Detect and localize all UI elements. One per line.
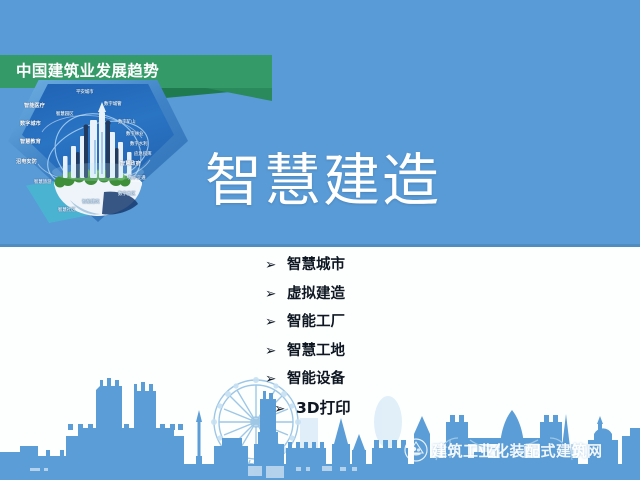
- list-item-label: 智慧城市: [287, 253, 345, 274]
- watermark: 建筑工业化装配式建筑网: [404, 437, 603, 463]
- pentagon-label: 智慧教育: [20, 140, 41, 145]
- list-item-label: 智能设备: [287, 367, 345, 388]
- site-logo-icon: [404, 438, 428, 462]
- pentagon-label: 数字景区: [118, 192, 136, 197]
- list-item[interactable]: ➢ 智慧工地: [265, 339, 525, 368]
- pentagon-label: 智慧政府: [120, 162, 141, 167]
- pentagon-label: 智慧社区: [58, 208, 76, 213]
- arrow-bullet-icon: ➢: [265, 371, 287, 387]
- list-item-label: 3D打印: [296, 396, 351, 418]
- watermark-text: 建筑工业化装配式建筑网: [432, 440, 603, 461]
- list-item-label: 智能工厂: [287, 310, 345, 331]
- pentagon-label: 应急指挥: [134, 152, 152, 157]
- pentagon-label: 智慧旅游: [34, 180, 52, 185]
- slide-canvas: 中国建筑业发展趋势: [0, 0, 640, 480]
- smart-city-pentagon-graphic: 平安城市 智能医疗 智慧园区 数字城管 数字城市 数字矿山 智慧教育 数字林业 …: [8, 80, 188, 222]
- pentagon-label: 数字城管: [104, 102, 122, 107]
- list-item[interactable]: ➢ 3D打印: [265, 396, 525, 425]
- pentagon-label: 数字交通: [128, 176, 146, 181]
- pentagon-label: 数字城市: [20, 122, 41, 127]
- pentagon-label: 数字矿山: [118, 120, 136, 125]
- pentagon-label: 平安城市: [76, 90, 94, 95]
- list-item[interactable]: ➢ 虚拟建造: [265, 282, 525, 311]
- pentagon-label: 数字水利: [130, 142, 148, 147]
- ribbon-fold-right: [206, 88, 272, 101]
- list-item[interactable]: ➢ 智慧城市: [265, 253, 525, 282]
- page-title: 智慧建造: [205, 148, 441, 214]
- list-item-label: 智慧工地: [287, 339, 345, 360]
- pentagon-label: 数字林业: [126, 132, 144, 137]
- pentagon-label: 智能医疗: [24, 104, 45, 109]
- pentagon-label: 沼电安防: [16, 160, 37, 165]
- pentagon-label: 智能建筑: [82, 200, 100, 205]
- arrow-bullet-icon: ➢: [265, 343, 287, 359]
- arrow-bullet-icon: ➢: [274, 401, 296, 417]
- list-item-label: 虚拟建造: [287, 282, 345, 303]
- arrow-bullet-icon: ➢: [265, 286, 287, 302]
- pentagon-label: 智慧园区: [56, 112, 74, 117]
- list-item[interactable]: ➢ 智能工厂: [265, 310, 525, 339]
- arrow-bullet-icon: ➢: [265, 314, 287, 330]
- bullet-list: ➢ 智慧城市 ➢ 虚拟建造 ➢ 智能工厂 ➢ 智慧工地 ➢ 智能设备 ➢ 3D打…: [265, 253, 525, 424]
- arrow-bullet-icon: ➢: [265, 257, 287, 273]
- list-item[interactable]: ➢ 智能设备: [265, 367, 525, 396]
